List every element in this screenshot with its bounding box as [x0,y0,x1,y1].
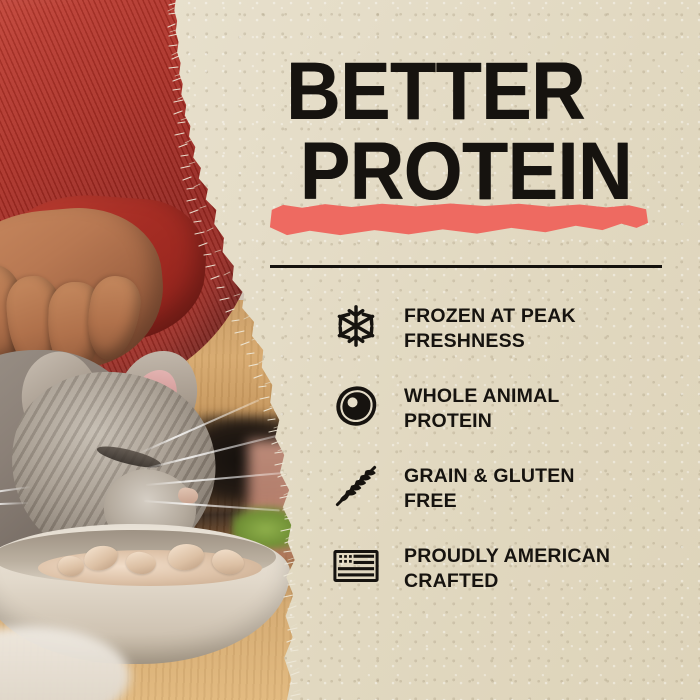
american-flag-icon [330,540,382,592]
feature-list: FROZEN AT PEAK FRESHNESS WHOLE ANIMAL PR… [330,298,670,618]
wheat-crossed-out-icon [330,460,382,512]
list-item: FROZEN AT PEAK FRESHNESS [330,298,670,354]
poster-content: BETTER PROTEIN [0,0,700,700]
poster: BETTER PROTEIN [0,0,700,700]
headline-line-1: BETTER [286,52,654,132]
list-item-label: PROUDLY AMERICAN CRAFTED [404,538,610,594]
list-item: GRAIN & GLUTEN FREE [330,458,670,514]
divider-rule [270,265,662,268]
page-title: BETTER PROTEIN [286,52,654,213]
list-item: WHOLE ANIMAL PROTEIN [330,378,670,434]
headline-line-2: PROTEIN [300,132,654,212]
list-item: PROUDLY AMERICAN CRAFTED [330,538,670,594]
headline-brush-underline [268,202,648,238]
snowflake-icon [330,300,382,352]
list-item-label: GRAIN & GLUTEN FREE [404,458,575,514]
list-item-label: WHOLE ANIMAL PROTEIN [404,378,560,434]
list-item-label: FROZEN AT PEAK FRESHNESS [404,298,576,354]
meat-steak-icon [330,380,382,432]
